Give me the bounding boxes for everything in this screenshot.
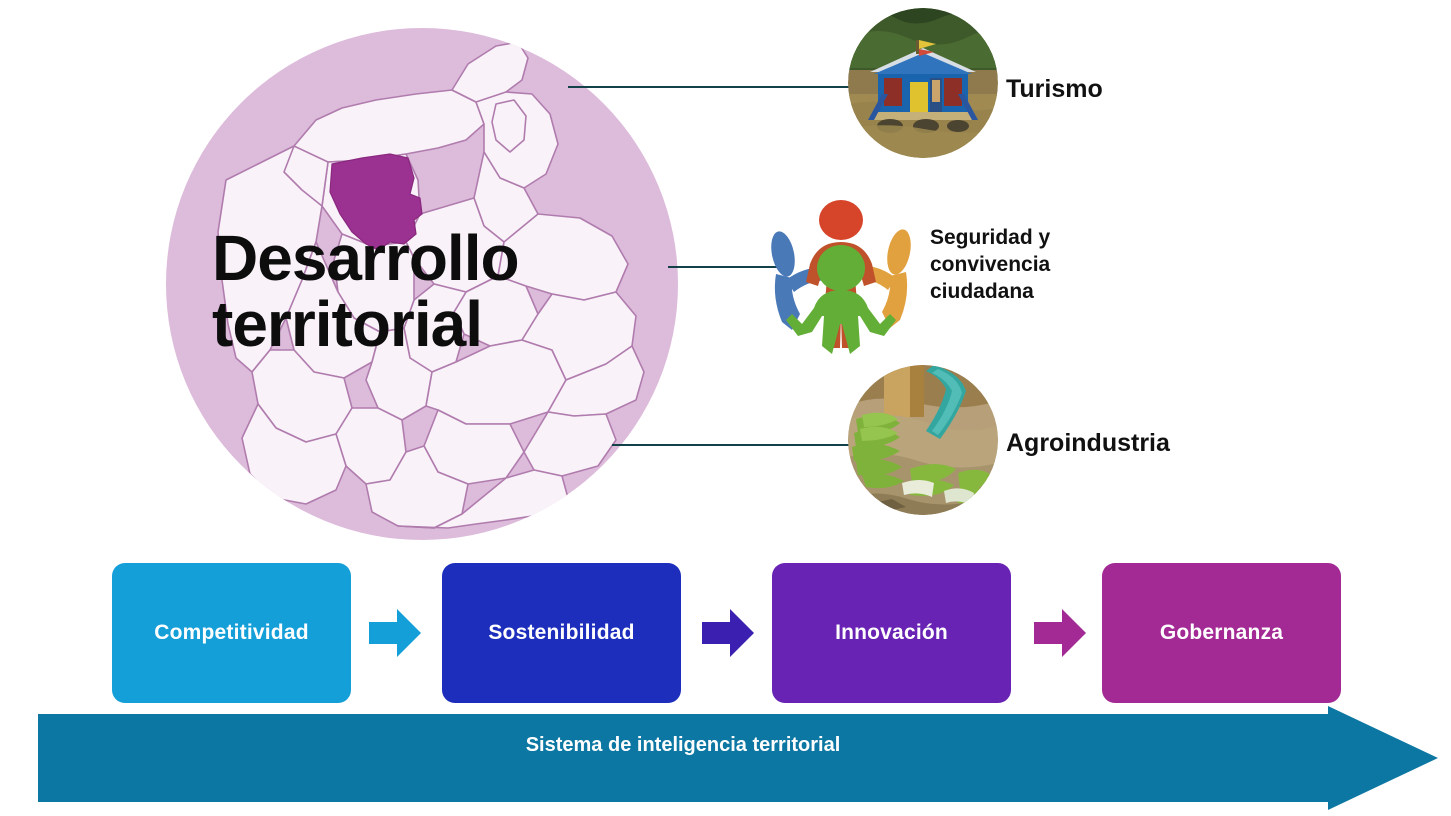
sector-label-agroindustria-line-1: Agroindustria bbox=[1006, 427, 1170, 459]
pillar-sostenibilidad[interactable]: Sostenibilidad bbox=[442, 563, 681, 703]
map-departments bbox=[218, 42, 644, 528]
pillar-sostenibilidad-label: Sostenibilidad bbox=[488, 621, 634, 645]
sector-label-agroindustria: Agroindustria bbox=[1006, 427, 1170, 459]
agroindustria-photo[interactable] bbox=[848, 365, 998, 515]
sector-label-seguridad-line-2: convivencia bbox=[930, 252, 1050, 279]
colombia-map-circle bbox=[166, 28, 678, 540]
connector-line-agroindustria bbox=[612, 444, 870, 446]
connector-line-turismo bbox=[568, 86, 868, 88]
sector-label-turismo: Turismo bbox=[1006, 73, 1103, 105]
pillar-competitividad-label: Competitividad bbox=[154, 621, 308, 645]
slide-canvas: Desarrollo territorial bbox=[0, 0, 1451, 816]
sector-label-seguridad-line-3: ciudadana bbox=[930, 279, 1050, 306]
people-group-icon[interactable] bbox=[766, 196, 916, 354]
sector-label-turismo-line-1: Turismo bbox=[1006, 73, 1103, 105]
sector-label-seguridad-line-1: Seguridad y bbox=[930, 225, 1050, 252]
pillar-innovacion-label: Innovación bbox=[835, 621, 948, 645]
pillar-competitividad[interactable]: Competitividad bbox=[112, 563, 351, 703]
sector-label-seguridad: Seguridad y convivencia ciudadana bbox=[930, 225, 1050, 306]
pillar-gobernanza-label: Gobernanza bbox=[1160, 621, 1283, 645]
sistema-inteligencia-banner bbox=[38, 706, 1438, 810]
arrow-right-icon-1 bbox=[367, 605, 423, 661]
arrow-right-icon-2 bbox=[700, 605, 756, 661]
arrow-right-icon-3 bbox=[1032, 605, 1088, 661]
turismo-photo[interactable] bbox=[848, 8, 998, 158]
pillar-innovacion[interactable]: Innovación bbox=[772, 563, 1011, 703]
pillar-gobernanza[interactable]: Gobernanza bbox=[1102, 563, 1341, 703]
